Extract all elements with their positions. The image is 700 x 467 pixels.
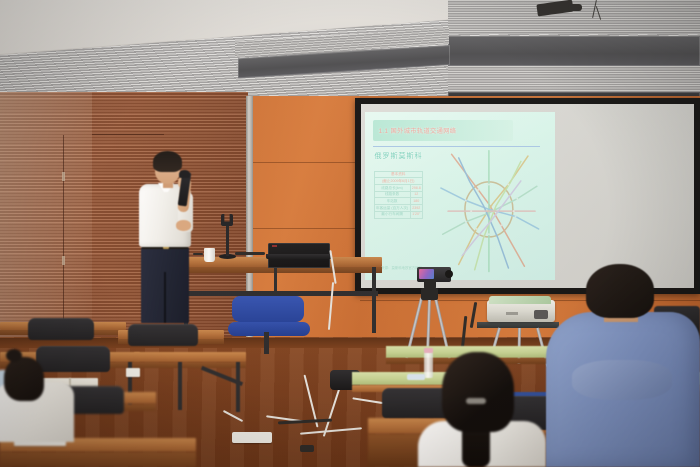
table-cell-value: 298.8 <box>410 185 422 192</box>
student-left-hair <box>4 357 44 401</box>
slide-subtitle: 俄罗斯莫斯科 <box>375 151 423 161</box>
tripod-head <box>421 288 438 300</box>
paper-cup <box>204 248 215 262</box>
water-bottle-cap <box>424 348 433 353</box>
ceiling-band-lower <box>448 66 700 92</box>
projector-top-panel <box>489 296 551 304</box>
table-cell-value: 180 <box>410 198 422 205</box>
slide-title-bar: 1.1 国外城市轨道交通网络 <box>373 120 514 140</box>
student-desk-leg-3 <box>178 362 182 410</box>
office-chair-post <box>264 332 269 354</box>
table-row: 车站数 180 <box>374 198 422 205</box>
student-desk-leg-4 <box>236 362 240 412</box>
wall-light-patch <box>0 92 92 340</box>
presenter-leg-seam <box>164 272 166 323</box>
orange-panel-seam-1 <box>253 162 360 163</box>
student-left-hair-bun <box>6 349 22 362</box>
water-bottle <box>424 352 433 378</box>
table-cell-value: 1'20" <box>410 211 422 218</box>
lecture-hall-photo: 1.1 国外城市轨道交通网络 俄罗斯莫斯科 基本资料 (截止2009年6月1日)… <box>0 0 700 467</box>
slide-table-body: 基本资料 (截止2009年6月1日) 线路总长(km) 298.8 线路条数 1… <box>374 171 422 218</box>
table-cell-value: 2392 <box>410 205 422 212</box>
projection-screen-surface: 1.1 国外城市轨道交通网络 俄罗斯莫斯科 基本资料 (截止2009年6月1日)… <box>361 104 694 288</box>
student-ponytail-hair-tie <box>466 398 486 404</box>
table-cell-label: 最小行车间隔 <box>374 211 410 218</box>
office-chair-back <box>232 296 304 322</box>
student-chair-row2-1 <box>36 346 110 372</box>
presenter-hair <box>153 151 182 172</box>
microphone-head <box>179 170 190 178</box>
table-header-cell: 基本资料 <box>374 171 422 178</box>
projected-slide: 1.1 国外城市轨道交通网络 俄罗斯莫斯科 基本资料 (截止2009年6月1日)… <box>365 112 555 280</box>
table-row-subheader: (截止2009年6月1日) <box>374 178 422 185</box>
ceiling-vent-grille <box>448 36 700 66</box>
table-cell-label: 车站数 <box>374 198 410 205</box>
camcorder-lcd-screen <box>419 269 434 279</box>
table-cell-label: 线路条数 <box>374 191 410 198</box>
camcorder-lens <box>445 270 453 278</box>
door-hinge-upper <box>62 172 65 181</box>
table-row: 最小行车间隔 1'20" <box>374 211 422 218</box>
table-cell-value: 12 <box>410 191 422 198</box>
slide-data-table: 基本资料 (截止2009年6月1日) 线路总长(km) 298.8 线路条数 1… <box>374 171 423 219</box>
projector-lens <box>534 310 548 319</box>
student-chair-back-1 <box>28 318 94 340</box>
student-chair-back-2 <box>128 324 198 346</box>
desk-cable-2 <box>193 253 203 255</box>
student-desk-row2-right-top <box>134 352 246 362</box>
power-strip <box>232 432 272 443</box>
student-desk-row2-right-edge <box>134 362 246 368</box>
mic-stand-pole <box>226 224 229 256</box>
presenter-hand-lower <box>176 220 191 231</box>
camcorder-mount <box>424 280 436 289</box>
ceiling-device-bracket <box>568 4 582 11</box>
student-blue-shirt-fold <box>572 360 672 400</box>
table-row-header: 基本资料 <box>374 171 422 178</box>
table-subheader-cell: (截止2009年6月1日) <box>374 178 422 185</box>
name-card <box>126 368 140 377</box>
student-blue-hair <box>586 264 654 318</box>
metro-map-graphic <box>430 149 548 273</box>
door-seam-left <box>63 135 64 340</box>
table-row: 线路条数 12 <box>374 191 422 198</box>
table-cell-label: 年客运量 (百万人次) <box>374 205 410 212</box>
lectern-desk-leg-right <box>372 267 376 333</box>
office-chair-seat <box>228 322 310 336</box>
tissue-pack <box>407 374 425 380</box>
desk-cable <box>235 252 265 255</box>
student-desk-nearest-edge <box>0 452 196 467</box>
slide-divider-rule <box>373 146 540 147</box>
floor-cable-plug <box>300 445 314 452</box>
orange-panel-seam-2 <box>253 228 360 229</box>
door-top-seam <box>92 134 164 135</box>
table-row: 线路总长(km) 298.8 <box>374 185 422 192</box>
slide-title: 1.1 国外城市轨道交通网络 <box>373 126 457 135</box>
table-cell-label: 线路总长(km) <box>374 185 410 192</box>
projector-label <box>506 312 518 315</box>
door-hinge-lower <box>62 256 65 265</box>
student-ponytail-hair <box>442 352 514 432</box>
laptop-logo <box>272 245 277 247</box>
table-row: 年客运量 (百万人次) 2392 <box>374 205 422 212</box>
projection-screen-frame: 1.1 国外城市轨道交通网络 俄罗斯莫斯科 基本资料 (截止2009年6月1日)… <box>355 98 700 294</box>
laptop-base <box>266 254 332 259</box>
